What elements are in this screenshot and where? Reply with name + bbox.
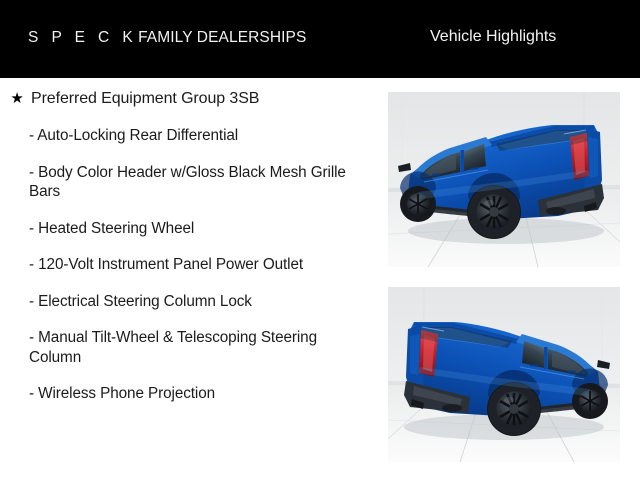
page-title: Vehicle Highlights <box>430 27 556 47</box>
vehicle-photo-rear-passenger-side <box>388 287 620 462</box>
feature-item: - Electrical Steering Column Lock <box>0 292 378 312</box>
brand-name-family: FAMILY DEALERSHIPS <box>138 29 306 46</box>
brand-logo: S P E C KFAMILY DEALERSHIPS <box>28 28 306 47</box>
feature-item: - Heated Steering Wheel <box>0 219 378 239</box>
slide-root: S P E C KFAMILY DEALERSHIPS Vehicle High… <box>0 0 640 480</box>
header-bar: S P E C KFAMILY DEALERSHIPS Vehicle High… <box>0 0 640 78</box>
feature-headline-label: Preferred Equipment Group 3SB <box>31 90 259 107</box>
feature-headline: ★ Preferred Equipment Group 3SB <box>0 89 378 109</box>
vehicle-photo-rear-driver-side-image <box>388 92 620 267</box>
brand-name-speck: S P E C K <box>28 29 137 46</box>
star-icon: ★ <box>9 91 25 107</box>
feature-item: - 120-Volt Instrument Panel Power Outlet <box>0 255 378 275</box>
vehicle-photo-rear-passenger-side-image <box>388 287 620 462</box>
feature-item: - Body Color Header w/Gloss Black Mesh G… <box>0 163 378 202</box>
feature-item: - Auto-Locking Rear Differential <box>0 126 378 146</box>
feature-list: ★ Preferred Equipment Group 3SB - Auto-L… <box>0 82 378 480</box>
vehicle-photo-rear-driver-side <box>388 92 620 267</box>
feature-item: - Manual Tilt-Wheel & Telescoping Steeri… <box>0 328 378 367</box>
feature-item: - Wireless Phone Projection <box>0 384 378 404</box>
